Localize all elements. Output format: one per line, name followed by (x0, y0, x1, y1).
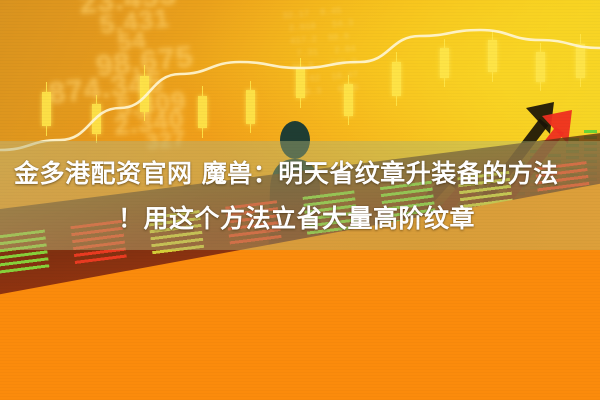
headline-line-2: ！用这个方法立省大量高阶纹章 (0, 196, 600, 241)
headline-block: 金多港配资官网 魔兽：明天省纹章升装备的方法 ！用这个方法立省大量高阶纹章 (0, 141, 600, 250)
headline-line-1: 金多港配资官网 魔兽：明天省纹章升装备的方法 (0, 151, 600, 196)
banner-image: 32.17 8.45 2.918 54.3 417.2 98.6 7.31 2.… (0, 0, 600, 400)
